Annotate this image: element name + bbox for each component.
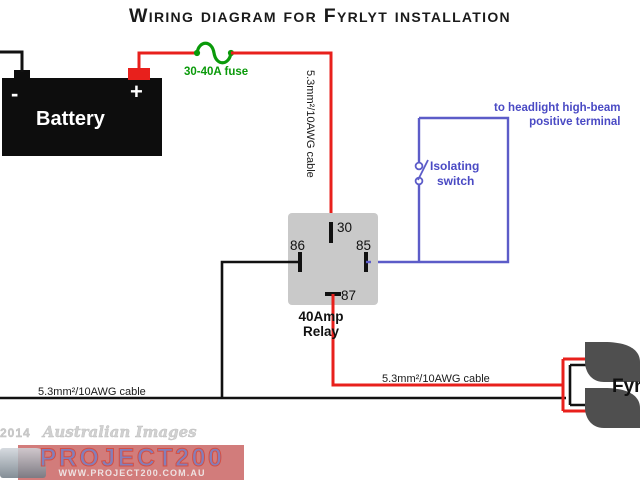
main-cable-spec-label: 5.3mm²/10AWG cable — [304, 70, 316, 178]
page-title: Wiring diagram for Fyrlyt installation — [0, 6, 640, 28]
headlight-terminal-note: to headlight high-beam positive terminal — [494, 101, 621, 130]
fuse-symbol — [197, 43, 231, 63]
relay-pin-30-label: 30 — [337, 220, 352, 235]
isolating-switch-label-line1: Isolating — [430, 159, 479, 173]
isolating-switch-label: Isolating switch — [430, 159, 479, 189]
fuse-terminal-left-icon — [194, 50, 200, 56]
lights-brand-label: Fyrl — [612, 376, 640, 397]
relay-pin-85-label: 85 — [356, 238, 371, 253]
diagram-graphics — [0, 0, 640, 480]
relay-name-line1: 40Amp — [298, 309, 343, 324]
watermark-year: 2014 — [0, 427, 31, 440]
relay-name-line2: Relay — [303, 324, 339, 339]
watermark-script-text: 2014Australian Images — [0, 424, 240, 441]
positive-wire-to-relay-30 — [231, 53, 331, 232]
headlight-terminal-note-line2: positive terminal — [529, 116, 620, 128]
wiring-diagram-canvas: Wiring diagram for Fyrlyt installation -… — [0, 0, 640, 480]
battery-negative-label: - — [11, 82, 18, 107]
relay-pin-86-label: 86 — [290, 238, 305, 253]
watermark-url-text: WWW.PROJECT200.COM.AU — [22, 468, 242, 478]
watermark-author: Australian Images — [43, 423, 197, 441]
headlight-terminal-note-line1: to headlight high-beam — [494, 102, 621, 114]
isolating-switch-upper-contact-icon[interactable] — [416, 163, 423, 170]
fuse-rating-label: 30-40A fuse — [184, 66, 248, 79]
earth-cable-spec-label: 5.3mm²/10AWG cable — [38, 386, 146, 398]
battery-name-label: Battery — [36, 108, 105, 130]
relay-87-output-wire — [333, 294, 563, 385]
blue-headlight-signal-wire — [371, 118, 508, 262]
battery-positive-label: + — [130, 80, 143, 105]
lights-cable-spec-label: 5.3mm²/10AWG cable — [382, 373, 490, 385]
relay-name-label: 40Amp Relay — [266, 309, 376, 339]
relay-pin-87-label: 87 — [341, 288, 356, 303]
isolating-switch-label-line2: switch — [430, 174, 479, 189]
battery-negative-wire — [0, 52, 22, 72]
